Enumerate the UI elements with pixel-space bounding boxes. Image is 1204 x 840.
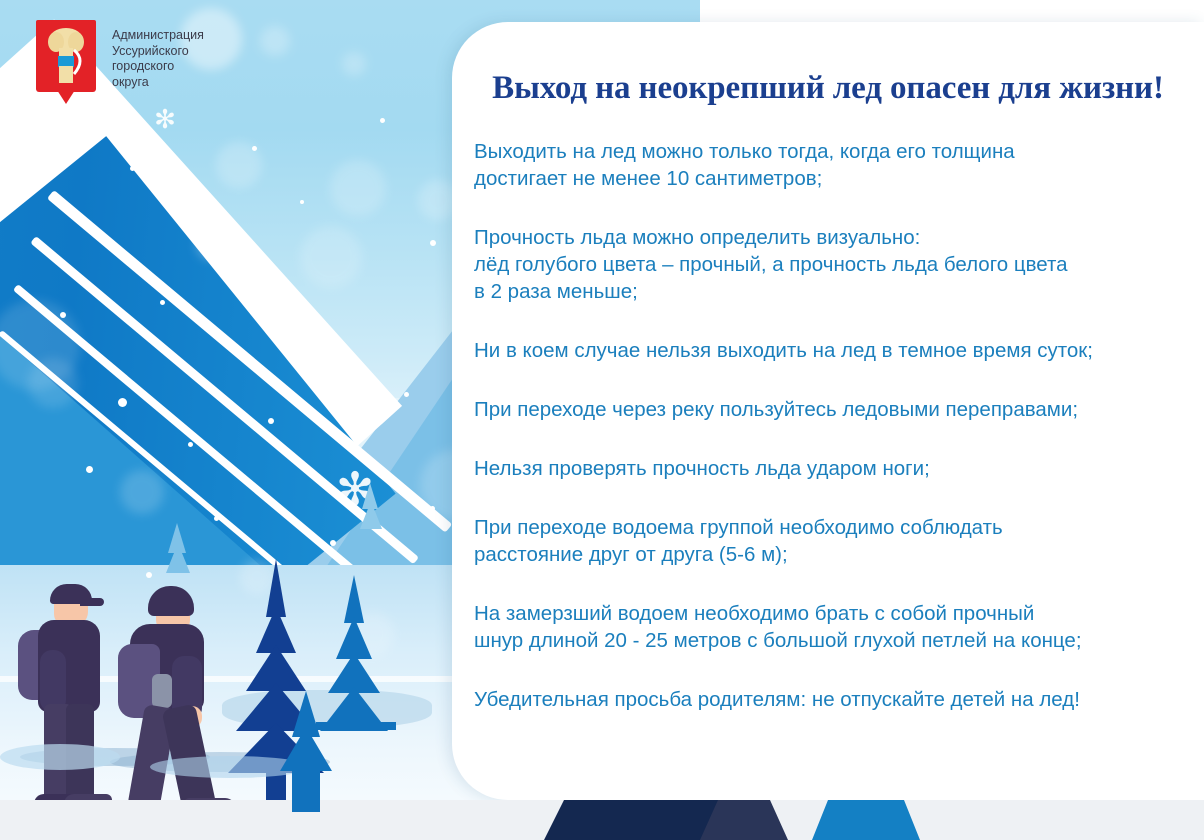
- snow-dot-18: [430, 506, 435, 511]
- bokeh-12: [120, 470, 164, 514]
- bokeh-7: [300, 226, 362, 288]
- snow-dot-2: [130, 166, 135, 171]
- snow-dot-6: [380, 118, 385, 123]
- safety-tips-list: Выходить на лед можно только тогда, когд…: [474, 138, 1204, 713]
- trapezoid-blue: [812, 797, 920, 840]
- poster-canvas: ✻ ✻: [0, 0, 1204, 840]
- snow-dot-10: [60, 312, 66, 318]
- snow-dot-5: [300, 200, 304, 204]
- backpack-pocket-front: [152, 674, 172, 708]
- snow-dot-11: [118, 398, 127, 407]
- snow-dot-17: [330, 540, 336, 546]
- snow-dot-15: [86, 466, 93, 473]
- tip-item: При переходе через реку пользуйтесь ледо…: [474, 396, 1204, 423]
- cap-brim-rear: [80, 598, 104, 606]
- snow-dot-8: [286, 284, 292, 290]
- snow-clump-left: [0, 744, 120, 770]
- snow-dot-12: [188, 442, 193, 447]
- bokeh-10: [28, 358, 78, 408]
- tip-item: На замерзший водоем необходимо брать с с…: [474, 600, 1204, 654]
- snow-dot-9: [160, 300, 165, 305]
- trapezoid-slate: [700, 797, 788, 840]
- snow-dot-3: [196, 198, 200, 202]
- snow-dot-7: [430, 240, 436, 246]
- bottom-band: [0, 800, 1204, 840]
- arm-rear: [40, 650, 66, 712]
- snowflake-icon-top: ✻: [152, 106, 178, 132]
- coat-of-arms-svg: [36, 20, 96, 92]
- content-card: Выход на неокрепший лед опасен для жизни…: [452, 22, 1204, 800]
- snow-dot-14: [404, 392, 409, 397]
- tip-item: Нельзя проверять прочность льда ударом н…: [474, 455, 1204, 482]
- snow-dot-19: [146, 572, 152, 578]
- snow-dot-16: [214, 516, 219, 521]
- bokeh-2: [260, 26, 290, 56]
- bokeh-5: [330, 160, 386, 216]
- snow-dot-4: [252, 146, 257, 151]
- tip-item: Выходить на лед можно только тогда, когд…: [474, 138, 1204, 192]
- snow-dot-13: [268, 418, 274, 424]
- tip-item: Ни в коем случае нельзя выходить на лед …: [474, 337, 1204, 364]
- page-title: Выход на неокрепший лед опасен для жизни…: [452, 70, 1204, 107]
- coat-of-arms-point: [57, 90, 75, 104]
- logo-text: Администрация Уссурийского городского ок…: [112, 28, 242, 90]
- tip-item: При переходе водоема группой необходимо …: [474, 514, 1204, 568]
- coat-of-arms-icon: [36, 20, 96, 92]
- bokeh-6: [196, 230, 226, 260]
- bokeh-3: [342, 52, 366, 76]
- tip-item: Прочность льда можно определить визуальн…: [474, 224, 1204, 305]
- tip-item: Убедительная просьба родителям: не отпус…: [474, 686, 1204, 713]
